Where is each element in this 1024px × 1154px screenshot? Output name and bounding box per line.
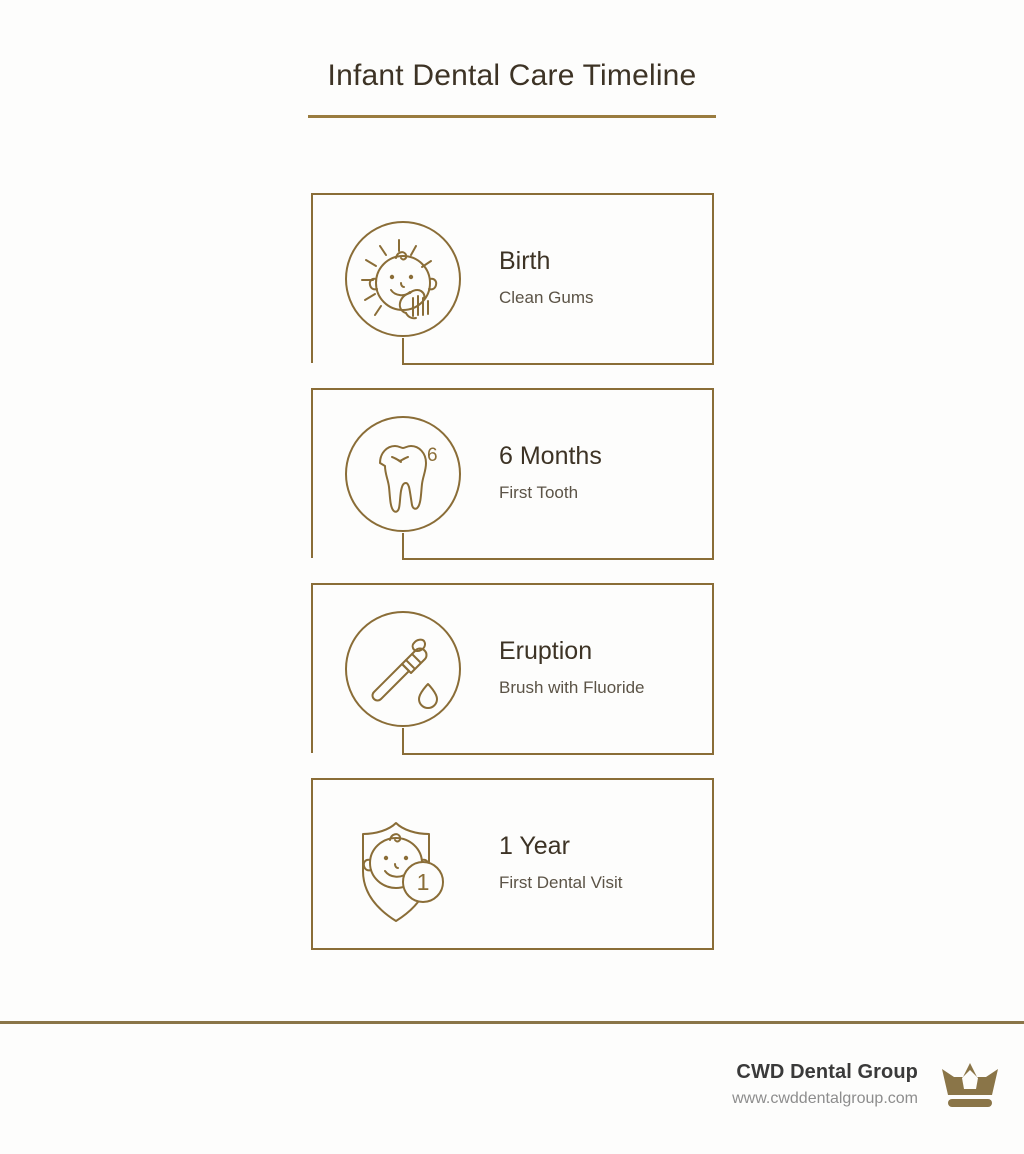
- footer-divider: [0, 1021, 1024, 1024]
- timeline-card-bottom-rule: [402, 558, 714, 560]
- timeline-heading: 6 Months: [499, 441, 602, 472]
- timeline-subtitle: Brush with Fluoride: [499, 677, 645, 698]
- timeline-card-6-months[interactable]: 6 6 Months First Tooth: [311, 388, 714, 558]
- timeline-list: Birth Clean Gums 6 6 Months First Tooth: [311, 193, 714, 948]
- shield-baby-icon: 1: [344, 805, 462, 923]
- footer: CWD Dental Group www.cwddentalgroup.com: [732, 1060, 1000, 1109]
- timeline-subtitle: First Dental Visit: [499, 872, 622, 893]
- toothbrush-fluoride-icon: [344, 610, 462, 728]
- page-header: Infant Dental Care Timeline: [0, 58, 1024, 118]
- timeline-card-bottom-rule: [402, 753, 714, 755]
- timeline-card-eruption[interactable]: Eruption Brush with Fluoride: [311, 583, 714, 753]
- timeline-subtitle: Clean Gums: [499, 287, 593, 308]
- timeline-card-text: 6 Months First Tooth: [499, 441, 602, 507]
- crown-icon: [940, 1061, 1000, 1109]
- timeline-heading: 1 Year: [499, 831, 622, 862]
- timeline-card-bottom-rule: [311, 948, 714, 950]
- timeline-card-text: 1 Year First Dental Visit: [499, 831, 622, 897]
- timeline-card-text: Eruption Brush with Fluoride: [499, 636, 645, 702]
- baby-gums-cleaning-icon: [344, 220, 462, 338]
- title-underline-rule: [308, 115, 716, 118]
- timeline-card-text: Birth Clean Gums: [499, 246, 593, 312]
- brand-website[interactable]: www.cwddentalgroup.com: [732, 1089, 918, 1109]
- timeline-card-birth[interactable]: Birth Clean Gums: [311, 193, 714, 363]
- timeline-heading: Eruption: [499, 636, 645, 667]
- shield-badge-number: 1: [417, 869, 430, 895]
- tooth-icon: 6: [344, 415, 462, 533]
- tooth-badge-number: 6: [427, 445, 438, 466]
- footer-brand-block: CWD Dental Group www.cwddentalgroup.com: [732, 1060, 918, 1109]
- page-title: Infant Dental Care Timeline: [0, 58, 1024, 94]
- timeline-card-1-year[interactable]: 1 1 Year First Dental Visit: [311, 778, 714, 948]
- timeline-card-bottom-rule: [402, 363, 714, 365]
- brand-name: CWD Dental Group: [732, 1060, 918, 1085]
- timeline-subtitle: First Tooth: [499, 482, 602, 503]
- timeline-heading: Birth: [499, 246, 593, 277]
